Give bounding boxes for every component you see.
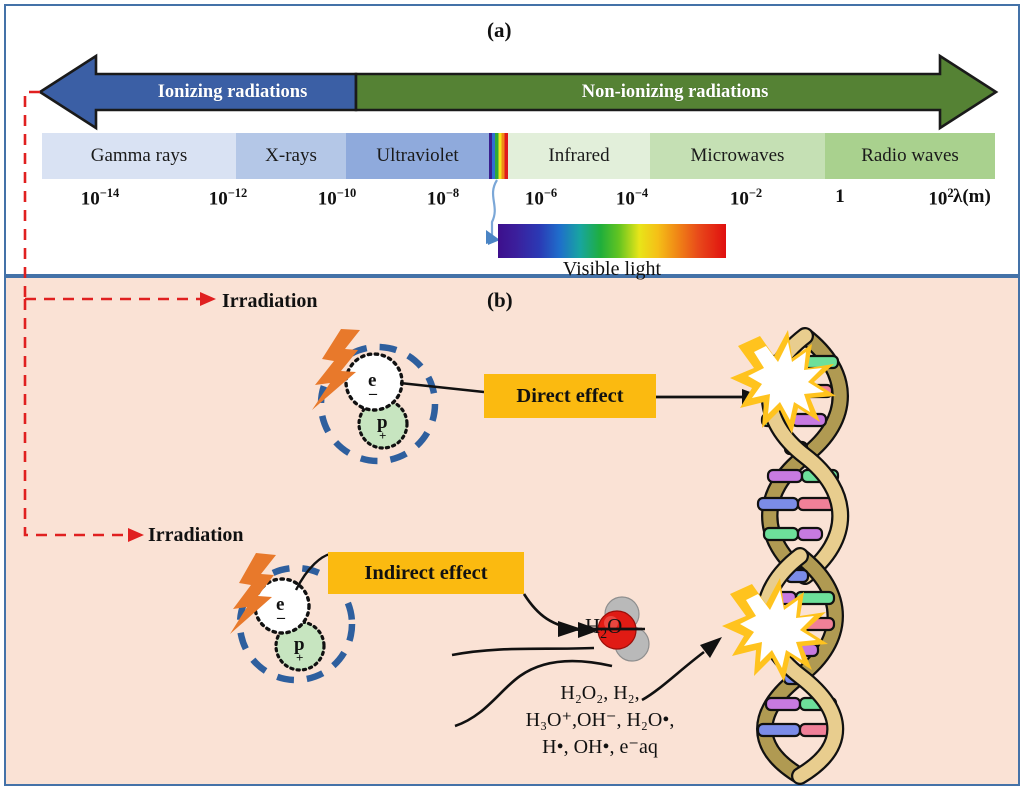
band-label: Ultraviolet [376, 145, 458, 167]
figure-root: (a) (b) Gamma raysX-raysUltravioletInfra… [0, 0, 1024, 790]
ionizing-radiations-label: Ionizing radiations [105, 82, 360, 103]
indirect-effect-box: Indirect effect [328, 552, 524, 594]
wavelength-axis-label: λ(m) [953, 186, 991, 208]
radical-line: H•, OH•, e⁻aq [470, 734, 730, 761]
radical-species-list: H₂O₂, H₂,H₃O⁺,OH⁻, H₂O•,H•, OH•, e⁻aq [470, 680, 730, 761]
irradiation-label-2: Irradiation [148, 524, 244, 547]
band-gamma-rays: Gamma rays [42, 133, 236, 179]
spectrum-band-strip: Gamma raysX-raysUltravioletInfraredMicro… [42, 133, 995, 179]
scale-tick: 10−10 [318, 186, 357, 210]
band-visible-sliver [489, 133, 508, 179]
band-label: X-rays [265, 145, 317, 167]
band-label: Radio waves [861, 145, 959, 167]
proton-sign-2: + [296, 650, 303, 666]
irradiation-label-1: Irradiation [222, 290, 318, 313]
scale-tick: 10−14 [81, 186, 120, 210]
band-label: Gamma rays [91, 145, 188, 167]
band-microwaves: Microwaves [650, 133, 825, 179]
scale-tick: 10−8 [427, 186, 459, 210]
visible-light-spectrum-bar [498, 224, 726, 258]
scale-tick: 10−12 [209, 186, 248, 210]
direct-effect-box: Direct effect [484, 374, 656, 418]
scale-tick: 10−2 [730, 186, 762, 210]
panel-b-label: (b) [487, 288, 513, 313]
panel-a-label: (a) [487, 18, 512, 43]
band-ultraviolet: Ultraviolet [346, 133, 489, 179]
scale-tick: 102 [928, 186, 953, 210]
radical-line: H₃O⁺,OH⁻, H₂O•, [470, 707, 730, 734]
band-radio-waves: Radio waves [825, 133, 995, 179]
electron-sign-1: – [369, 385, 377, 403]
scale-tick: 1 [835, 186, 845, 208]
wavelength-scale: 10−1410−1210−1010−810−610−410−21102 [0, 186, 1024, 216]
proton-sign-1: + [379, 428, 386, 444]
scale-tick: 10−6 [525, 186, 557, 210]
band-infrared: Infrared [508, 133, 650, 179]
band-label: Infrared [548, 145, 609, 167]
band-label: Microwaves [691, 145, 785, 167]
scale-tick: 10−4 [616, 186, 648, 210]
radical-line: H₂O₂, H₂, [470, 680, 730, 707]
water-formula-label: H2O [585, 614, 622, 643]
band-x-rays: X-rays [236, 133, 346, 179]
electron-sign-2: – [277, 609, 285, 627]
visible-light-label: Visible light [498, 258, 726, 281]
non-ionizing-radiations-label: Non-ionizing radiations [390, 82, 960, 103]
